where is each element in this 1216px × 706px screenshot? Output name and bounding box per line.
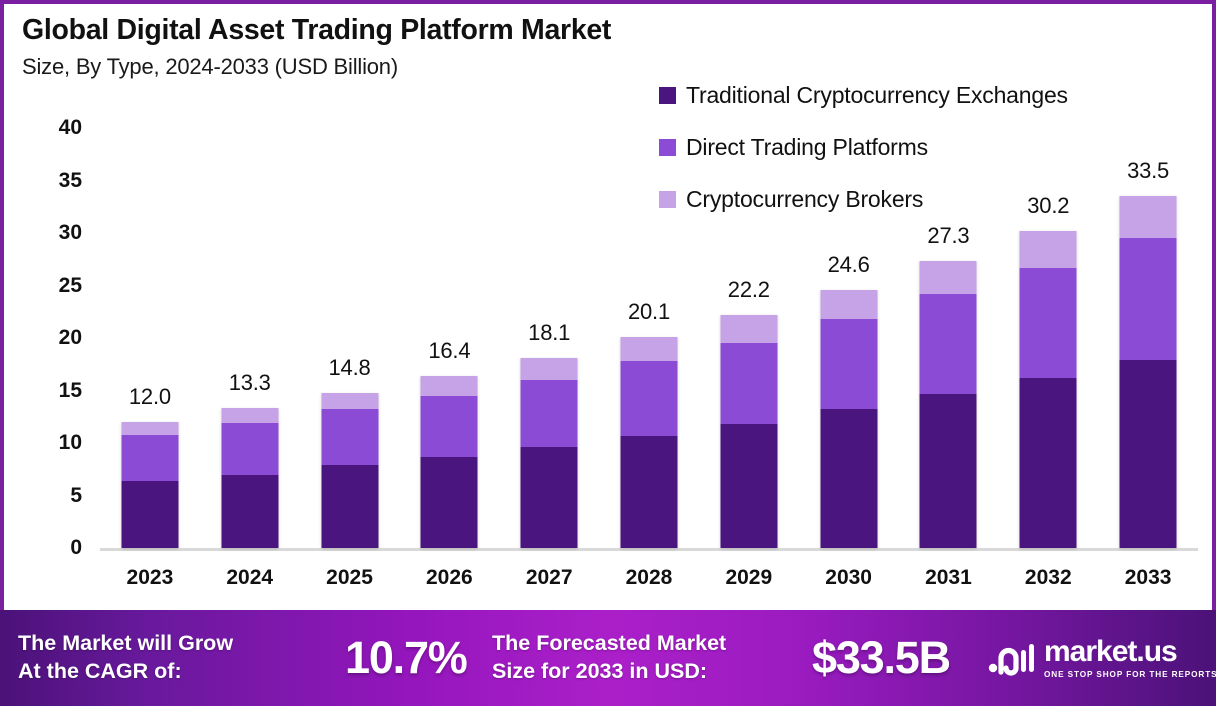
bar-segment-platforms[interactable] xyxy=(321,409,378,465)
bar-segment-brokers[interactable] xyxy=(521,358,578,380)
bar-group[interactable]: 14.82025 xyxy=(300,4,400,610)
stacked-bar[interactable] xyxy=(221,408,278,548)
cagr-caption-line2: At the CAGR of: xyxy=(18,658,233,686)
y-axis-tick-label: 10 xyxy=(18,431,82,455)
bar-group[interactable]: 30.22032 xyxy=(998,4,1098,610)
bar-value-label: 13.3 xyxy=(229,370,271,396)
bars-container: 12.0202313.3202414.8202516.4202618.12027… xyxy=(100,4,1198,610)
stacked-bar[interactable] xyxy=(720,315,777,548)
y-axis-tick-label: 30 xyxy=(18,221,82,245)
chart-card: Global Digital Asset Trading Platform Ma… xyxy=(4,4,1212,610)
bar-segment-platforms[interactable] xyxy=(820,319,877,409)
logo-text: market.us ONE STOP SHOP FOR THE REPORTS xyxy=(1044,637,1216,679)
bar-group[interactable]: 33.52033 xyxy=(1098,4,1198,610)
bar-segment-brokers[interactable] xyxy=(1120,196,1177,238)
bar-value-label: 14.8 xyxy=(329,355,371,381)
y-axis-tick-label: 25 xyxy=(18,274,82,298)
bar-value-label: 12.0 xyxy=(129,384,171,410)
forecast-caption-line2: Size for 2033 in USD: xyxy=(492,658,726,686)
y-axis-tick-label: 35 xyxy=(18,169,82,193)
cagr-caption-line1: The Market will Grow xyxy=(18,630,233,658)
market-us-logo[interactable]: market.us ONE STOP SHOP FOR THE REPORTS xyxy=(988,637,1216,679)
bar-group[interactable]: 12.02023 xyxy=(100,4,200,610)
bar-segment-platforms[interactable] xyxy=(720,343,777,424)
y-axis-tick-label: 40 xyxy=(18,116,82,140)
stacked-bar[interactable] xyxy=(321,393,378,548)
bar-segment-exchanges[interactable] xyxy=(820,409,877,548)
stacked-bar[interactable] xyxy=(121,422,178,548)
chart-bars-logo-icon xyxy=(988,638,1036,678)
bar-segment-exchanges[interactable] xyxy=(1020,378,1077,548)
bar-value-label: 16.4 xyxy=(428,338,470,364)
stacked-bar[interactable] xyxy=(620,337,677,548)
bar-segment-exchanges[interactable] xyxy=(121,481,178,548)
y-axis-tick-label: 15 xyxy=(18,379,82,403)
cagr-caption: The Market will Grow At the CAGR of: xyxy=(18,630,233,685)
bar-value-label: 30.2 xyxy=(1027,193,1069,219)
bar-segment-exchanges[interactable] xyxy=(221,475,278,549)
x-axis-tick-label: 2029 xyxy=(725,566,772,590)
bar-value-label: 22.2 xyxy=(728,277,770,303)
bar-segment-platforms[interactable] xyxy=(920,294,977,394)
bar-segment-brokers[interactable] xyxy=(421,376,478,396)
stacked-bar[interactable] xyxy=(421,376,478,548)
x-axis-tick-label: 2030 xyxy=(825,566,872,590)
x-axis-tick-label: 2028 xyxy=(626,566,673,590)
x-axis-tick-label: 2031 xyxy=(925,566,972,590)
bar-segment-exchanges[interactable] xyxy=(920,394,977,548)
bar-segment-brokers[interactable] xyxy=(620,337,677,361)
stacked-bar[interactable] xyxy=(1120,196,1177,548)
forecast-caption: The Forecasted Market Size for 2033 in U… xyxy=(492,630,726,685)
summary-banner: The Market will Grow At the CAGR of: 10.… xyxy=(0,610,1216,706)
x-axis-tick-label: 2023 xyxy=(127,566,174,590)
bar-segment-platforms[interactable] xyxy=(1020,268,1077,378)
y-axis-tick-label: 20 xyxy=(18,326,82,350)
bar-value-label: 18.1 xyxy=(528,320,570,346)
bar-group[interactable]: 16.42026 xyxy=(399,4,499,610)
x-axis-tick-label: 2025 xyxy=(326,566,373,590)
bar-value-label: 20.1 xyxy=(628,299,670,325)
x-axis-tick-label: 2033 xyxy=(1125,566,1172,590)
bar-segment-platforms[interactable] xyxy=(221,423,278,474)
bar-group[interactable]: 20.12028 xyxy=(599,4,699,610)
bar-value-label: 27.3 xyxy=(927,223,969,249)
logo-tagline: ONE STOP SHOP FOR THE REPORTS xyxy=(1044,670,1216,679)
bar-group[interactable]: 13.32024 xyxy=(200,4,300,610)
bar-segment-platforms[interactable] xyxy=(121,435,178,481)
bar-segment-brokers[interactable] xyxy=(720,315,777,343)
y-axis-tick-label: 5 xyxy=(18,484,82,508)
bar-group[interactable]: 24.62030 xyxy=(799,4,899,610)
forecast-value: $33.5B xyxy=(812,632,950,684)
logo-wordmark: market.us xyxy=(1044,637,1216,667)
bar-segment-brokers[interactable] xyxy=(1020,231,1077,268)
stacked-bar[interactable] xyxy=(920,261,977,548)
bar-segment-platforms[interactable] xyxy=(620,361,677,436)
cagr-value: 10.7% xyxy=(345,632,467,684)
bar-group[interactable]: 18.12027 xyxy=(499,4,599,610)
y-axis-tick-label: 0 xyxy=(18,536,82,560)
bar-group[interactable]: 22.22029 xyxy=(699,4,799,610)
bar-segment-exchanges[interactable] xyxy=(1120,360,1177,548)
stacked-bar[interactable] xyxy=(1020,231,1077,548)
bar-segment-brokers[interactable] xyxy=(321,393,378,410)
forecast-caption-line1: The Forecasted Market xyxy=(492,630,726,658)
bar-segment-brokers[interactable] xyxy=(920,261,977,294)
x-axis-tick-label: 2024 xyxy=(226,566,273,590)
bar-segment-brokers[interactable] xyxy=(820,290,877,319)
bar-segment-brokers[interactable] xyxy=(221,408,278,423)
bar-segment-exchanges[interactable] xyxy=(720,424,777,548)
bar-value-label: 24.6 xyxy=(828,252,870,278)
plot-area: 0510152025303540 12.0202313.3202414.8202… xyxy=(4,4,1212,610)
bar-segment-platforms[interactable] xyxy=(421,396,478,457)
infographic-root: Global Digital Asset Trading Platform Ma… xyxy=(0,0,1216,706)
bar-segment-exchanges[interactable] xyxy=(321,465,378,548)
bar-segment-platforms[interactable] xyxy=(521,380,578,447)
x-axis-tick-label: 2032 xyxy=(1025,566,1072,590)
bar-group[interactable]: 27.32031 xyxy=(899,4,999,610)
y-axis: 0510152025303540 xyxy=(18,4,82,610)
x-axis-tick-label: 2026 xyxy=(426,566,473,590)
stacked-bar[interactable] xyxy=(521,358,578,548)
bar-segment-brokers[interactable] xyxy=(121,422,178,435)
stacked-bar[interactable] xyxy=(820,290,877,548)
bar-segment-platforms[interactable] xyxy=(1120,238,1177,360)
bar-value-label: 33.5 xyxy=(1127,158,1169,184)
bar-segment-exchanges[interactable] xyxy=(521,447,578,548)
bar-segment-exchanges[interactable] xyxy=(620,436,677,548)
x-axis-tick-label: 2027 xyxy=(526,566,573,590)
bar-segment-exchanges[interactable] xyxy=(421,457,478,548)
